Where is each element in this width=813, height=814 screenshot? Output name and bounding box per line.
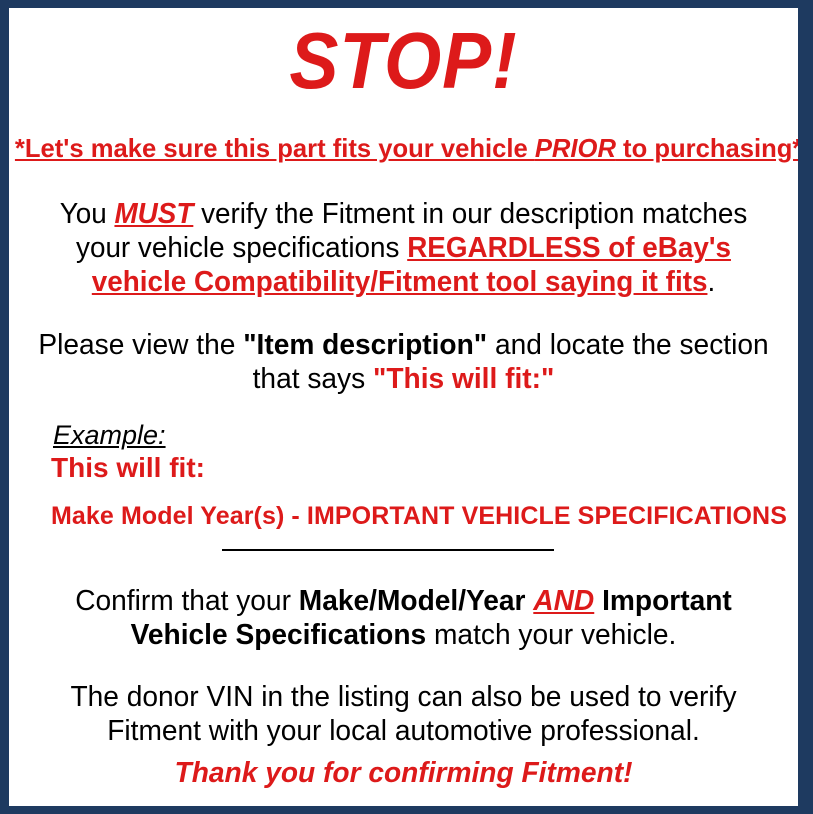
must-paragraph-segment-1: You xyxy=(60,198,115,230)
confirm-segment-2: match your vehicle. xyxy=(426,619,676,651)
subtitle-text-before: *Let's make sure this part fits your veh… xyxy=(15,133,535,163)
example-fitment-spec-line: Make Model Year(s) - IMPORTANT VEHICLE S… xyxy=(51,502,787,532)
fitment-notice-frame: STOP! *Let's make sure this part fits yo… xyxy=(0,0,813,814)
subtitle-text-after: to purchasing* xyxy=(616,133,798,163)
example-divider-rule xyxy=(222,549,554,551)
example-label: Example: xyxy=(53,420,166,452)
confirm-paragraph: Confirm that your Make/Model/Year AND Im… xyxy=(32,584,774,652)
item-description-quoted: "Item description" xyxy=(243,329,487,361)
thank-you-line: Thank you for confirming Fitment! xyxy=(21,756,786,790)
must-verify-paragraph: You MUST verify the Fitment in our descr… xyxy=(42,197,765,300)
must-keyword: MUST xyxy=(114,198,193,230)
fitment-notice-body: STOP! *Let's make sure this part fits yo… xyxy=(9,8,798,806)
stop-heading: STOP! xyxy=(41,14,767,108)
make-model-year-bold: Make/Model/Year xyxy=(299,585,526,617)
and-keyword: AND xyxy=(533,585,594,617)
item-desc-segment-1: Please view the xyxy=(38,329,243,361)
must-paragraph-period: . xyxy=(707,266,715,298)
item-description-paragraph: Please view the "Item description" and l… xyxy=(31,328,777,396)
subtitle-line: *Let's make sure this part fits your veh… xyxy=(15,133,792,164)
donor-vin-paragraph: The donor VIN in the listing can also be… xyxy=(31,680,777,748)
this-will-fit-quoted: "This will fit:" xyxy=(373,363,554,395)
confirm-segment-1: Confirm that your xyxy=(75,585,299,617)
subtitle-prior-emphasis: PRIOR xyxy=(535,133,616,163)
example-this-will-fit-header: This will fit: xyxy=(51,451,205,484)
